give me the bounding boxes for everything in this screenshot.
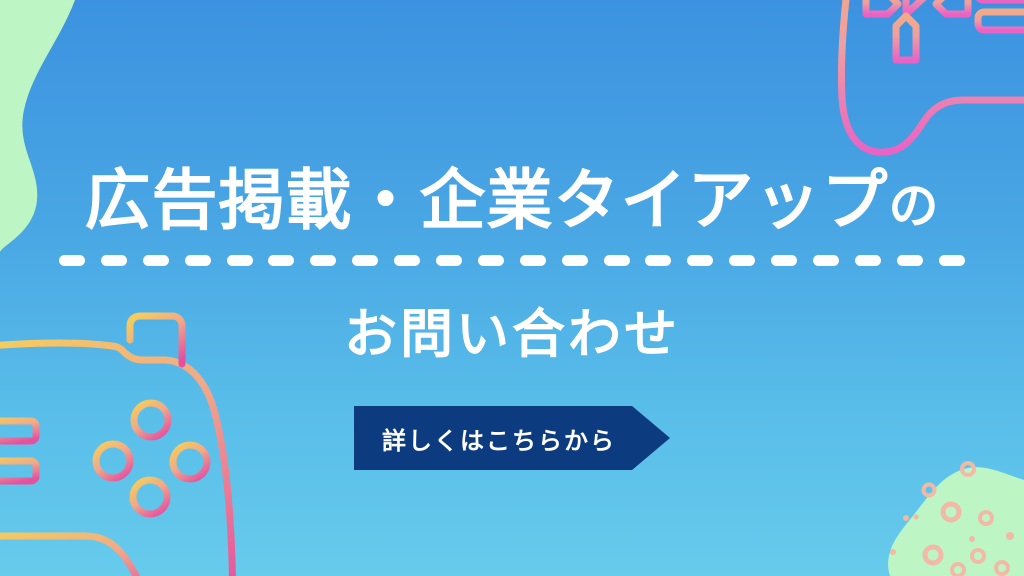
- divider-dash: [855, 255, 881, 266]
- divider-dash: [813, 255, 839, 266]
- details-cta-button[interactable]: 詳しくはこちらから: [354, 406, 670, 470]
- divider-dash: [59, 255, 85, 266]
- banner-content: 広告掲載・企業タイアップの お問い合わせ: [0, 0, 1024, 576]
- divider-dash: [729, 255, 755, 266]
- promo-banner: 広告掲載・企業タイアップの お問い合わせ: [0, 0, 1024, 576]
- divider-dash: [771, 255, 797, 266]
- headline-suffix-text: の: [889, 177, 940, 235]
- divider-dash: [352, 255, 378, 266]
- divider-dash: [897, 255, 923, 266]
- divider-dash: [185, 255, 211, 266]
- divider-dash: [520, 255, 546, 266]
- divider-dash: [939, 255, 965, 266]
- divider-dash: [436, 255, 462, 266]
- divider-dash: [310, 255, 336, 266]
- divider-dash: [604, 255, 630, 266]
- divider-dash: [101, 255, 127, 266]
- page-title: 広告掲載・企業タイアップの: [85, 168, 940, 234]
- divider-dash: [227, 255, 253, 266]
- page-subtitle: お問い合わせ: [344, 292, 680, 368]
- divider-dash: [143, 255, 169, 266]
- headline-main-text: 広告掲載・企業タイアップ: [85, 162, 889, 239]
- divider-dash: [268, 255, 294, 266]
- divider-dash: [478, 255, 504, 266]
- divider-dash: [394, 255, 420, 266]
- dashed-divider: [59, 254, 965, 266]
- details-cta-label: 詳しくはこちらから: [382, 421, 616, 456]
- divider-dash: [645, 255, 671, 266]
- divider-dash: [687, 255, 713, 266]
- divider-dash: [562, 255, 588, 266]
